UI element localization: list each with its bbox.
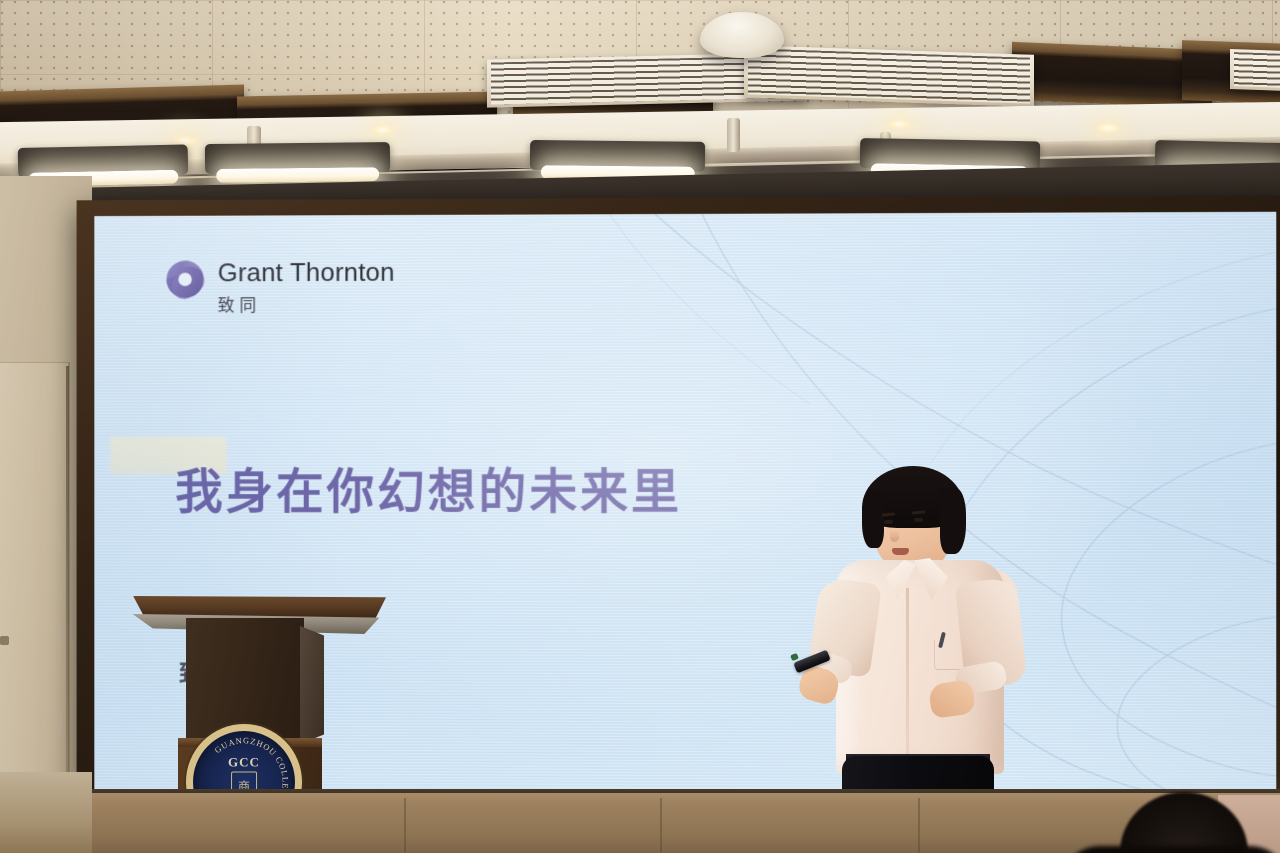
presenter-eye bbox=[884, 520, 893, 525]
downlight-icon bbox=[370, 124, 396, 136]
stage-left-step bbox=[0, 772, 92, 853]
grille-slats bbox=[1234, 52, 1280, 88]
presenter-hair-side bbox=[862, 490, 884, 548]
stage-seam bbox=[660, 798, 662, 853]
track-light-fixture bbox=[860, 138, 1041, 171]
hvac-grille bbox=[744, 45, 1034, 107]
stage-seam bbox=[404, 798, 406, 853]
pipe-drop bbox=[727, 118, 740, 152]
presenter-hair-side bbox=[940, 488, 966, 554]
grant-thornton-swirl-icon bbox=[165, 259, 205, 299]
presenter-mouth bbox=[892, 548, 909, 555]
audience-member-shoulders bbox=[1060, 846, 1280, 853]
lecture-hall-scene: Grant Thornton 致同 我身在你幻想的未来里 致同 bbox=[0, 0, 1280, 853]
track-light-fixture bbox=[18, 144, 189, 178]
downlight-icon bbox=[886, 118, 912, 130]
podium-side-panel bbox=[300, 626, 324, 744]
slide-logo-block: Grant Thornton 致同 bbox=[165, 257, 394, 316]
brand-chinese-name: 致同 bbox=[218, 291, 395, 316]
stage-seam bbox=[918, 798, 920, 853]
downlight-icon bbox=[1095, 122, 1121, 134]
stage-floor bbox=[0, 793, 1280, 853]
presenter-nose bbox=[890, 530, 899, 542]
brand-wordmark: Grant Thornton bbox=[218, 257, 395, 288]
presenter-shirt-placket bbox=[906, 588, 909, 768]
presenter-eye bbox=[914, 518, 923, 523]
hvac-grille bbox=[1230, 49, 1280, 91]
door-handle-icon[interactable] bbox=[0, 636, 9, 645]
clicker-tip bbox=[790, 653, 799, 661]
left-wall-door-panel bbox=[0, 362, 70, 842]
track-light-fixture bbox=[205, 142, 390, 174]
slide-title: 我身在你幻想的未来里 bbox=[175, 452, 682, 522]
grille-slats bbox=[748, 48, 1030, 103]
track-light-fixture bbox=[530, 140, 705, 172]
emblem-monogram: GCC bbox=[228, 754, 260, 770]
